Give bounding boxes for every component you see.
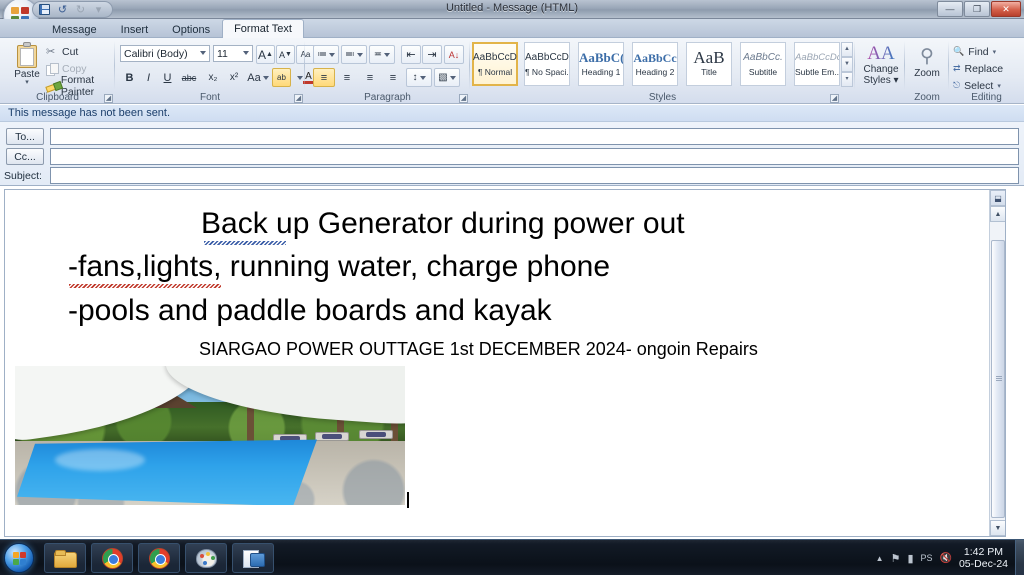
window-title: Untitled - Message (HTML) — [0, 2, 1024, 14]
taskbar-item-outlook-message[interactable] — [232, 543, 274, 573]
editing-group-label: Editing — [949, 92, 1024, 103]
styles-scroll-down-icon[interactable]: ▼ — [841, 57, 853, 72]
paste-button[interactable]: Paste ▾ — [8, 42, 46, 90]
underline-button[interactable]: U — [158, 68, 177, 87]
message-header: To... Cc... Subject: — [0, 122, 1024, 186]
tab-options[interactable]: Options — [160, 21, 222, 38]
style-name: Heading 1 — [579, 67, 623, 77]
multilevel-list-button[interactable]: ≖ — [369, 45, 395, 64]
text-highlight-button[interactable]: ab — [272, 68, 291, 87]
clock-time: 1:42 PM — [959, 546, 1008, 558]
ribbon-group-editing: 🔍 Find ▾ ⇄ Replace ⎋ Select ▾ Editing — [949, 38, 1024, 104]
select-label: Select — [964, 80, 993, 92]
find-label: Find — [968, 46, 988, 58]
text-cursor — [407, 492, 409, 508]
paragraph-dialog-launcher-icon[interactable]: ◢ — [459, 94, 468, 103]
message-status-bar: This message has not been sent. — [0, 105, 1024, 122]
scissors-icon: ✂ — [46, 46, 58, 58]
start-button[interactable] — [4, 543, 34, 573]
style-title[interactable]: AaB Title — [686, 42, 732, 86]
style-name: ¶ Normal — [473, 67, 517, 77]
strikethrough-button[interactable]: abc — [177, 68, 201, 87]
scroll-up-button[interactable]: ▲ — [990, 206, 1006, 222]
cursor-select-icon: ⎋ — [953, 80, 960, 91]
style-name: Subtle Em... — [795, 67, 839, 77]
subscript-button[interactable]: x₂ — [203, 68, 223, 87]
style-heading-1[interactable]: AaBbC( Heading 1 — [578, 42, 624, 86]
styles-gallery-scroll: ▲ ▼ ▾ — [841, 42, 853, 86]
magnifier-icon: ⚲ — [920, 46, 934, 68]
styles-more-icon[interactable]: ▾ — [841, 72, 853, 87]
line-spacing-icon: ↕ — [413, 72, 418, 83]
ribbon-tab-strip: Message Insert Options Format Text — [0, 19, 1024, 38]
cc-button[interactable]: Cc... — [6, 148, 44, 165]
change-styles-label-line1: Change — [863, 64, 898, 75]
to-input[interactable] — [50, 128, 1019, 145]
windows-flag-icon — [13, 552, 27, 566]
change-case-button[interactable]: Aa — [246, 68, 270, 87]
clipboard-group-label: Clipboard — [0, 92, 115, 103]
superscript-button[interactable]: x² — [224, 68, 244, 87]
chrome-icon — [149, 548, 170, 569]
message-body-editor[interactable]: Back up Generator during power out -fans… — [5, 190, 989, 536]
chrome-icon — [102, 548, 123, 569]
paragraph-group-label: Paragraph — [305, 92, 470, 103]
numbering-button[interactable]: ≕ — [341, 45, 367, 64]
show-desktop-button[interactable] — [1015, 540, 1024, 575]
folder-icon — [54, 550, 76, 567]
volume-muted-icon[interactable]: 🔇 — [940, 553, 952, 564]
styles-group-label: Styles — [470, 92, 855, 103]
cut-label: Cut — [62, 46, 78, 58]
italic-label: I — [147, 72, 150, 84]
minimize-button[interactable]: — — [937, 1, 963, 17]
taskbar: ▲ ⚑ ▮ PS 🔇 1:42 PM 05-Dec-24 — [0, 539, 1024, 575]
highlight-label: ab — [277, 73, 286, 82]
find-caret-icon[interactable]: ▾ — [993, 48, 997, 56]
shading-icon: ▧ — [438, 72, 447, 83]
increase-indent-button[interactable]: ⇥ — [422, 45, 442, 64]
tab-format-text[interactable]: Format Text — [222, 19, 304, 38]
font-name-value: Calibri (Body) — [124, 48, 188, 60]
body-line-1: Back up Generator during power out — [201, 207, 685, 241]
style-name: Heading 2 — [633, 67, 677, 77]
style-sample: AaBbCc — [633, 52, 677, 64]
pool-photo[interactable] — [15, 366, 405, 505]
scrollbar-thumb[interactable] — [991, 240, 1005, 518]
close-button[interactable]: ✕ — [991, 1, 1021, 17]
sort-button[interactable]: A↓ — [444, 45, 464, 64]
multilevel-list-icon: ≖ — [374, 49, 382, 60]
bold-button[interactable]: B — [120, 68, 139, 87]
subject-label: Subject: — [4, 170, 42, 182]
style-sample: AaBbCc. — [741, 52, 785, 64]
font-group-label: Font — [115, 92, 305, 103]
style-sample: AaBbCcDc — [525, 52, 569, 64]
split-window-handle[interactable]: ⬓ — [990, 190, 1006, 206]
style-name: Subtitle — [741, 67, 785, 77]
align-left-button[interactable]: ≡ — [313, 68, 335, 87]
taskbar-item-paint[interactable] — [185, 543, 227, 573]
change-case-label: Aa — [247, 72, 260, 84]
bullets-icon: ≔ — [317, 49, 327, 60]
paintbrush-icon — [46, 80, 57, 92]
zoom-button[interactable]: ⚲ Zoom — [907, 46, 947, 79]
style-sample: AaB — [687, 52, 731, 64]
body-line-4: SIARGAO POWER OUTTAGE 1st DECEMBER 2024-… — [199, 339, 758, 360]
ribbon-group-change-styles: AA Change Styles ▾ — [855, 38, 905, 104]
style-subtitle[interactable]: AaBbCc. Subtitle — [740, 42, 786, 86]
cut-button[interactable]: ✂ Cut — [46, 44, 78, 59]
restore-button[interactable]: ❐ — [964, 1, 990, 17]
font-size-value: 11 — [217, 48, 228, 60]
font-name-combobox[interactable]: Calibri (Body) — [120, 45, 210, 62]
style-sample: AaBbC( — [579, 52, 623, 64]
change-styles-icon: AA — [867, 44, 894, 64]
bold-label: B — [126, 72, 134, 84]
grow-font-label: A — [258, 48, 266, 62]
style-name: ¶ No Spaci... — [525, 67, 569, 77]
change-styles-button[interactable]: AA Change Styles ▾ — [859, 44, 903, 86]
clock[interactable]: 1:42 PM 05-Dec-24 — [959, 546, 1008, 570]
decrease-indent-button[interactable]: ⇤ — [401, 45, 421, 64]
spelling-underline — [69, 284, 221, 288]
select-button[interactable]: ⎋ Select ▾ — [953, 78, 1001, 93]
grow-font-button[interactable]: A▲ — [256, 45, 275, 64]
swimming-pool — [17, 438, 317, 505]
cc-input[interactable] — [50, 148, 1019, 165]
ribbon-group-zoom: ⚲ Zoom Zoom — [905, 38, 949, 104]
shrink-font-button[interactable]: A▼ — [276, 45, 295, 64]
font-dialog-launcher-icon[interactable]: ◢ — [294, 94, 303, 103]
replace-button[interactable]: ⇄ Replace — [953, 61, 1003, 76]
body-vertical-scrollbar[interactable]: ⬓ ▲ ▼ — [989, 190, 1005, 536]
change-styles-label-line2: Styles ▾ — [863, 75, 898, 86]
ribbon-group-clipboard: Paste ▾ ✂ Cut Copy Format Painter Clipbo… — [0, 38, 115, 104]
scroll-down-button[interactable]: ▼ — [990, 520, 1006, 536]
grammar-underline — [204, 241, 286, 245]
paste-caret-icon[interactable]: ▾ — [25, 80, 29, 85]
style-sample: AaBbCcDc — [795, 52, 839, 64]
numbering-icon: ≕ — [345, 49, 355, 60]
paint-palette-icon — [196, 549, 217, 568]
styles-scroll-up-icon[interactable]: ▲ — [841, 42, 853, 57]
title-bar: ↺ ↻ ▾ Untitled - Message (HTML) — ❐ ✕ — [0, 0, 1024, 19]
message-body-area[interactable]: Back up Generator during power out -fans… — [4, 189, 1006, 537]
italic-button[interactable]: I — [139, 68, 158, 87]
justify-button[interactable]: ≡ — [382, 68, 404, 87]
show-hidden-icons-icon[interactable]: ▲ — [876, 554, 884, 563]
line-spacing-button[interactable]: ↕ — [406, 68, 432, 87]
copy-icon — [46, 63, 58, 75]
window-controls: — ❐ ✕ — [937, 1, 1021, 17]
style-subtle-emphasis[interactable]: AaBbCcDc Subtle Em... — [794, 42, 840, 86]
taskbar-item-chrome-2[interactable] — [138, 543, 180, 573]
align-right-button[interactable]: ≡ — [359, 68, 381, 87]
to-button[interactable]: To... — [6, 128, 44, 145]
binoculars-icon: 🔍 — [953, 46, 964, 57]
zoom-group-label: Zoom — [905, 92, 949, 103]
language-bar-icon[interactable]: PS — [921, 553, 933, 563]
select-caret-icon[interactable]: ▾ — [997, 82, 1001, 90]
styles-dialog-launcher-icon[interactable]: ◢ — [830, 94, 839, 103]
taskbar-item-chrome-1[interactable] — [91, 543, 133, 573]
style-sample: AaBbCcDc — [473, 52, 517, 64]
lounge-chair — [315, 432, 349, 441]
clock-date: 05-Dec-24 — [959, 558, 1008, 570]
style-name: Title — [687, 67, 731, 77]
system-tray: ▲ ⚑ ▮ PS 🔇 1:42 PM 05-Dec-24 — [876, 540, 1024, 575]
network-icon[interactable]: ▮ — [907, 552, 913, 565]
body-line-3: -pools and paddle boards and kayak — [68, 294, 552, 328]
ribbon-group-paragraph: ≔ ≕ ≖ ⇤ ⇥ A↓ ≡ ≡ ≡ ≡ ↕ ▧ Paragraph ◢ — [305, 38, 470, 104]
shading-button[interactable]: ▧ — [434, 68, 460, 87]
style-no-spacing[interactable]: AaBbCcDc ¶ No Spaci... — [524, 42, 570, 86]
ribbon: Paste ▾ ✂ Cut Copy Format Painter Clipbo… — [0, 38, 1024, 104]
replace-label: Replace — [965, 63, 1004, 75]
tab-message[interactable]: Message — [40, 21, 109, 38]
replace-icon: ⇄ — [953, 63, 961, 74]
clipboard-dialog-launcher-icon[interactable]: ◢ — [104, 94, 113, 103]
outlook-message-icon — [243, 549, 264, 567]
outlook-compose-window: ↺ ↻ ▾ Untitled - Message (HTML) — ❐ ✕ Me… — [0, 0, 1024, 575]
style-heading-2[interactable]: AaBbCc Heading 2 — [632, 42, 678, 86]
body-line-2: -fans,lights, running water, charge phon… — [68, 250, 610, 284]
action-center-icon[interactable]: ⚑ — [891, 552, 901, 565]
style-normal[interactable]: AaBbCcDc ¶ Normal — [472, 42, 518, 86]
underline-label: U — [164, 72, 172, 84]
ribbon-group-styles: AaBbCcDc ¶ Normal AaBbCcDc ¶ No Spaci...… — [470, 38, 855, 104]
format-painter-button[interactable]: Format Painter — [46, 78, 115, 93]
font-size-combobox[interactable]: 11 — [213, 45, 253, 62]
bullets-button[interactable]: ≔ — [313, 45, 339, 64]
zoom-label: Zoom — [914, 68, 940, 79]
subject-input[interactable] — [50, 167, 1019, 184]
ribbon-group-font: Calibri (Body) 11 A▲ A▼ Aa B I — [115, 38, 305, 104]
tab-insert[interactable]: Insert — [109, 21, 161, 38]
paste-icon — [15, 42, 39, 68]
find-button[interactable]: 🔍 Find ▾ — [953, 44, 996, 59]
align-center-button[interactable]: ≡ — [336, 68, 358, 87]
taskbar-item-windows-explorer[interactable] — [44, 543, 86, 573]
lounge-chair — [359, 430, 393, 439]
